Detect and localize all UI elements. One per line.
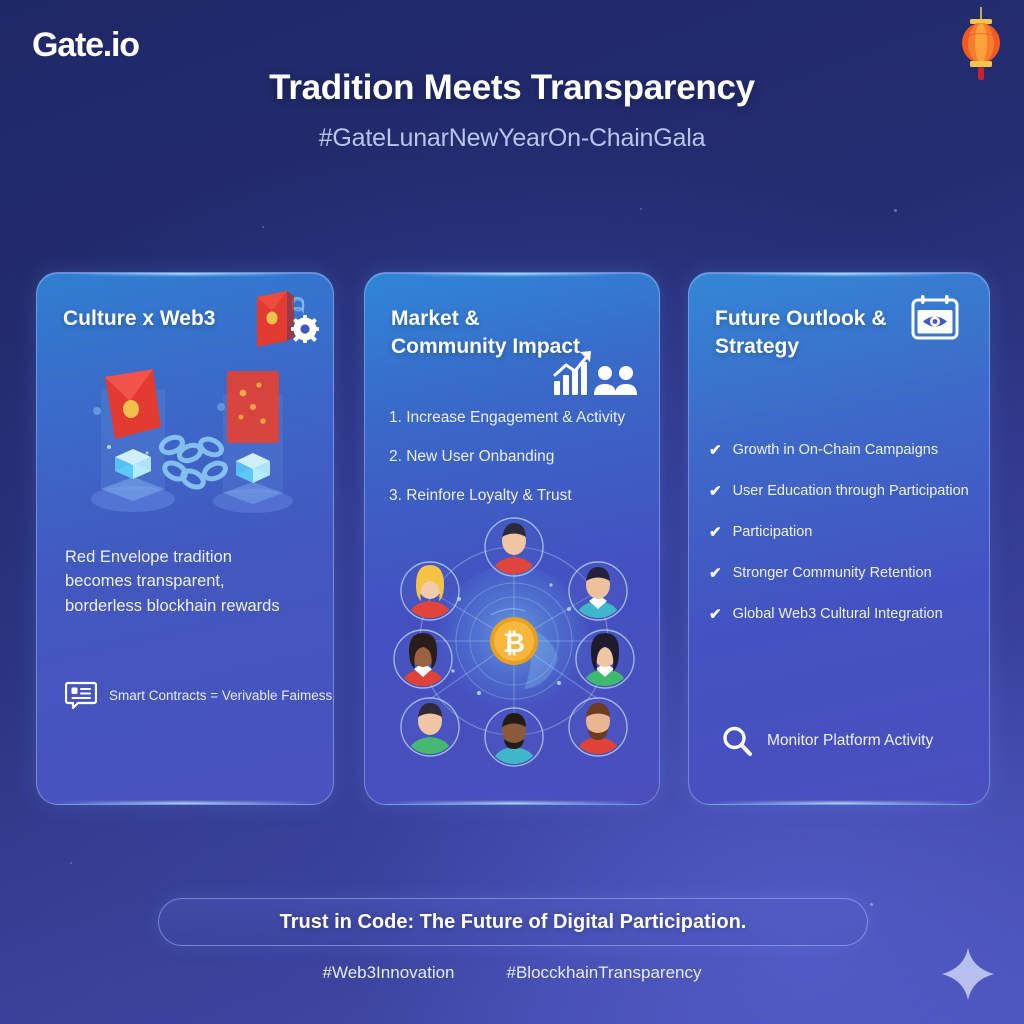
list-item: 3. Reinfore Loyalty & Trust xyxy=(389,487,647,505)
card-description: Red Envelope tradition becomes transpare… xyxy=(65,545,295,618)
hashtag[interactable]: #BlocckhainTransparency xyxy=(507,963,702,983)
brand-logo[interactable]: Gate.io xyxy=(32,26,139,65)
card-footer-label: Smart Contracts = Verivable Faimess xyxy=(109,688,332,703)
footer-banner: Trust in Code: The Future of Digital Par… xyxy=(158,898,868,946)
growth-chart-people-icon xyxy=(553,349,639,397)
check-icon: ✔ xyxy=(709,564,722,582)
chinese-lantern-icon xyxy=(957,6,1005,82)
strategy-list: ✔ Growth in On-Chain Campaigns ✔ User Ed… xyxy=(709,441,990,646)
check-icon: ✔ xyxy=(709,441,722,459)
card-footer-note: Smart Contracts = Verivable Faimess xyxy=(65,679,332,711)
list-item: ✔ User Education through Participation xyxy=(709,482,990,500)
list-item: 2. New User Onbanding xyxy=(389,448,647,466)
card-title: Culture x Web3 xyxy=(63,305,263,333)
hashtag[interactable]: #Web3Innovation xyxy=(323,963,455,983)
svg-text:₿: ₿ xyxy=(503,628,525,658)
card-market-community[interactable]: Market & Community Impact 1. Increase En… xyxy=(364,272,660,805)
list-item: 1. Increase Engagement & Activity xyxy=(389,409,647,427)
card-future-outlook[interactable]: Future Outlook & Strategy ✔ Growth in On… xyxy=(688,272,990,805)
list-item: ✔ Global Web3 Cultural Integration xyxy=(709,605,990,623)
list-item: ✔ Growth in On-Chain Campaigns xyxy=(709,441,990,459)
card-culture-web3[interactable]: Culture x Web3 xyxy=(36,272,334,805)
red-envelope-gear-icon xyxy=(247,285,325,355)
list-item-label: Stronger Community Retention xyxy=(733,565,932,581)
list-item-label: Participation xyxy=(733,524,813,540)
page-title: Tradition Meets Transparency xyxy=(0,68,1024,108)
check-icon: ✔ xyxy=(709,523,722,541)
list-item: ✔ Participation xyxy=(709,523,990,541)
community-network-bitcoin-illustration: ₿ xyxy=(383,511,645,781)
four-point-sparkle-icon xyxy=(940,946,996,1002)
list-item-label: Growth in On-Chain Campaigns xyxy=(733,442,939,458)
check-icon: ✔ xyxy=(709,482,722,500)
footer-hashtags: #Web3Innovation #BlocckhainTransparency xyxy=(0,963,1024,983)
list-item: ✔ Stronger Community Retention xyxy=(709,564,990,582)
list-item-label: Global Web3 Cultural Integration xyxy=(733,606,943,622)
calendar-eye-icon xyxy=(909,293,961,341)
footer-banner-text: Trust in Code: The Future of Digital Par… xyxy=(280,911,747,934)
card-footer-label: Monitor Platform Activity xyxy=(767,732,933,750)
impact-list: 1. Increase Engagement & Activity 2. New… xyxy=(389,409,647,526)
card-footer-note[interactable]: Monitor Platform Activity xyxy=(721,725,933,757)
list-item-label: User Education through Participation xyxy=(733,483,969,499)
card-title: Future Outlook & Strategy xyxy=(715,305,915,361)
search-icon xyxy=(721,725,753,757)
page-subtitle-hashtag: #GateLunarNewYearOn-ChainGala xyxy=(0,124,1024,153)
red-envelopes-blockchain-illustration xyxy=(75,349,303,519)
check-icon: ✔ xyxy=(709,605,722,623)
smart-contract-document-icon xyxy=(65,679,97,711)
